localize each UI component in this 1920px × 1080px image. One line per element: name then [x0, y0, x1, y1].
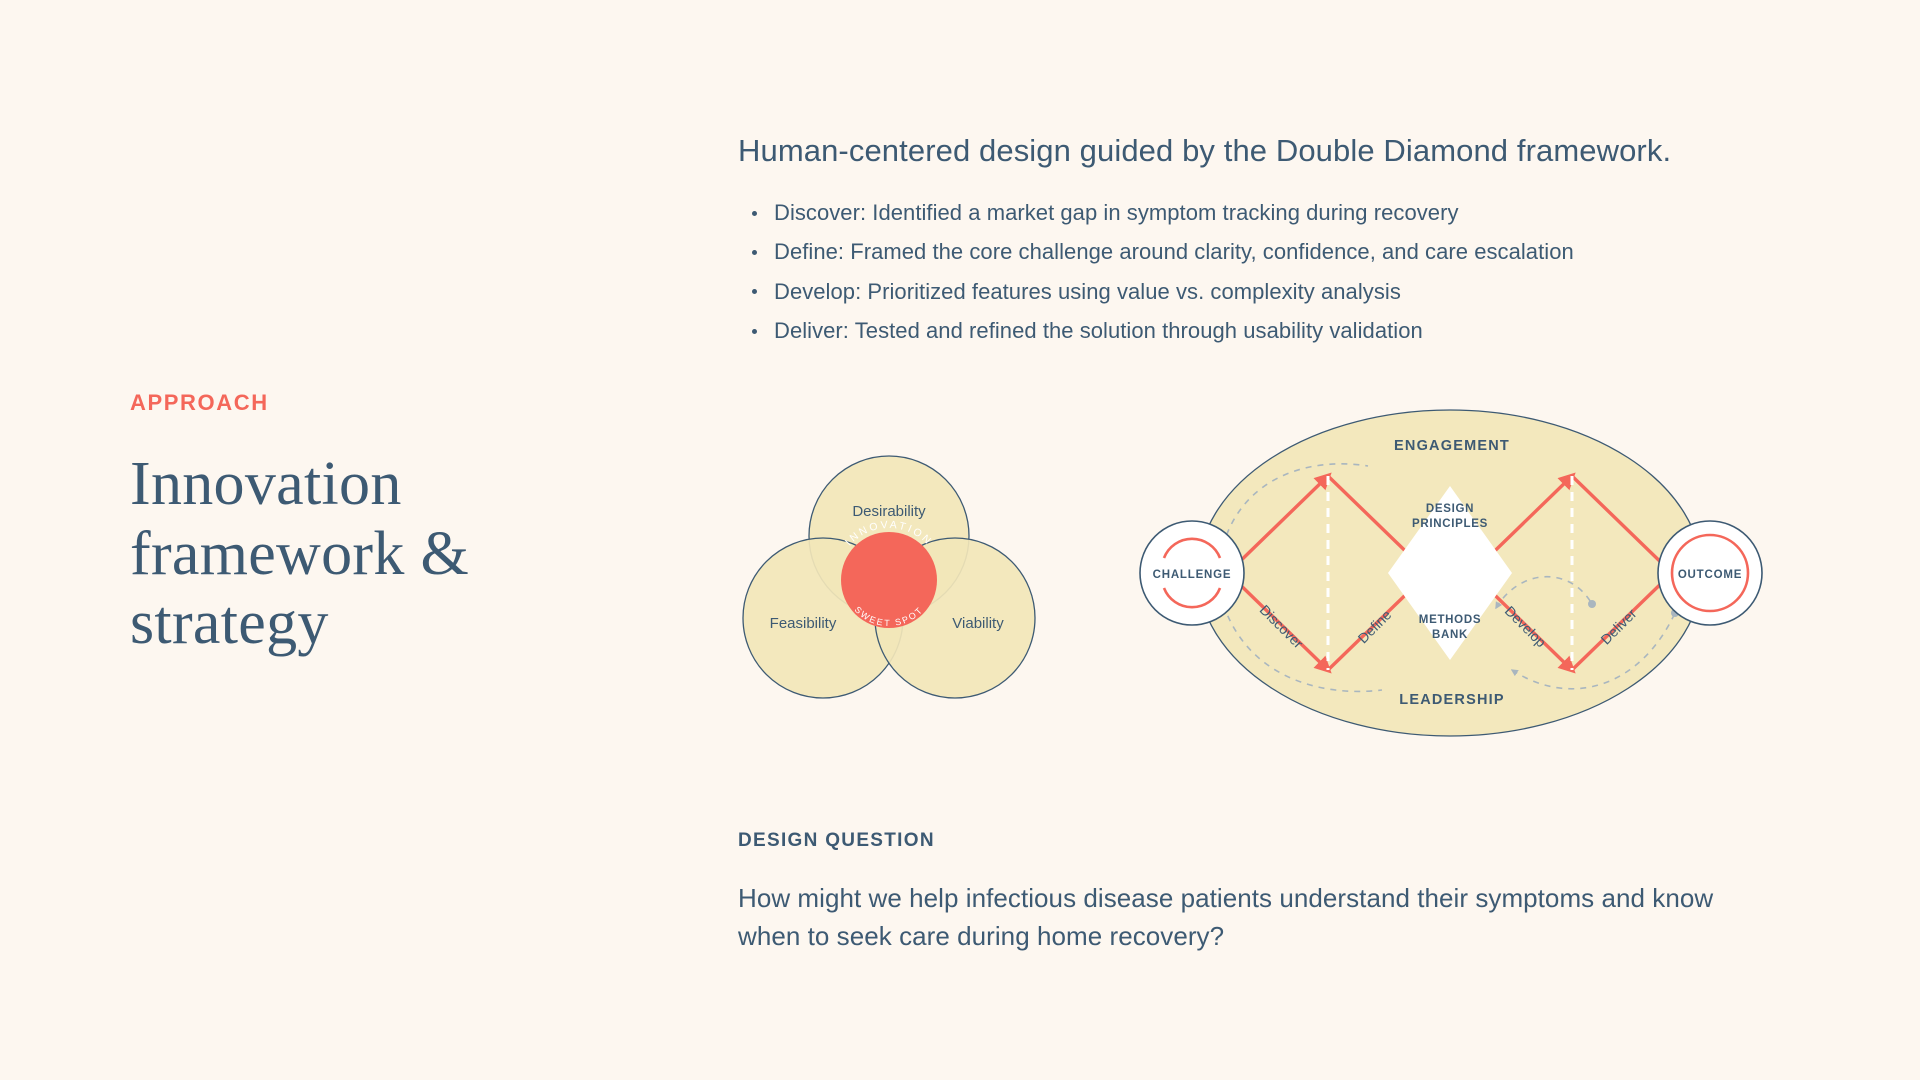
center-diamond-top-label-line2: PRINCIPLES — [1412, 518, 1488, 530]
left-column: APPROACH Innovation framework & strategy — [130, 390, 580, 659]
venn-label-desirability: Desirability — [852, 503, 926, 520]
design-question-section: DESIGN QUESTION How might we help infect… — [738, 830, 1758, 955]
double-diamond-svg: ENGAGEMENT LEADERSHIP — [1100, 408, 1800, 738]
list-item-label: Develop: Prioritized features using valu… — [774, 279, 1401, 304]
double-diamond-diagram: ENGAGEMENT LEADERSHIP — [1100, 408, 1800, 743]
venn-svg: Desirability Feasibility Viability INNOV… — [730, 428, 1060, 728]
design-question-text: How might we help infectious disease pat… — [738, 880, 1738, 955]
page-title-line-1: Innovation — [130, 450, 402, 518]
outcome-node-label: OUTCOME — [1678, 569, 1742, 581]
approach-bullet-list: Discover: Identified a market gap in sym… — [738, 197, 1748, 346]
page-title: Innovation framework & strategy — [130, 450, 580, 658]
page-title-line-3: strategy — [130, 589, 329, 657]
double-diamond-top-label: ENGAGEMENT — [1394, 438, 1510, 454]
list-item: Deliver: Tested and refined the solution… — [738, 315, 1748, 346]
list-item-label: Deliver: Tested and refined the solution… — [774, 318, 1423, 343]
list-item: Develop: Prioritized features using valu… — [738, 276, 1748, 307]
page-title-line-2: framework & — [130, 520, 469, 588]
challenge-node-label: CHALLENGE — [1153, 569, 1232, 581]
venn-diagram: Desirability Feasibility Viability INNOV… — [730, 428, 1060, 733]
section-eyebrow-label: APPROACH — [130, 390, 580, 416]
center-diamond-top-label-line1: DESIGN — [1426, 503, 1474, 515]
center-diamond-bottom-label-line1: METHODS — [1419, 614, 1481, 626]
center-diamond-bottom-label-line2: BANK — [1432, 629, 1468, 641]
list-item-label: Define: Framed the core challenge around… — [774, 239, 1574, 264]
list-item: Discover: Identified a market gap in sym… — [738, 197, 1748, 228]
bullet-dot-icon — [752, 329, 757, 334]
lede-paragraph: Human-centered design guided by the Doub… — [738, 130, 1698, 171]
feedback-loop-dot — [1588, 600, 1596, 608]
venn-label-viability: Viability — [952, 615, 1004, 632]
venn-label-feasibility: Feasibility — [770, 615, 837, 632]
bullet-dot-icon — [752, 211, 757, 216]
right-column: Human-centered design guided by the Doub… — [738, 130, 1748, 354]
design-question-label: DESIGN QUESTION — [738, 830, 1758, 852]
slide-root: APPROACH Innovation framework & strategy… — [0, 0, 1920, 1080]
diagram-row: Desirability Feasibility Viability INNOV… — [730, 418, 1800, 798]
list-item-label: Discover: Identified a market gap in sym… — [774, 200, 1459, 225]
double-diamond-bottom-label: LEADERSHIP — [1399, 692, 1504, 708]
list-item: Define: Framed the core challenge around… — [738, 236, 1748, 267]
bullet-dot-icon — [752, 250, 757, 255]
bullet-dot-icon — [752, 289, 757, 294]
